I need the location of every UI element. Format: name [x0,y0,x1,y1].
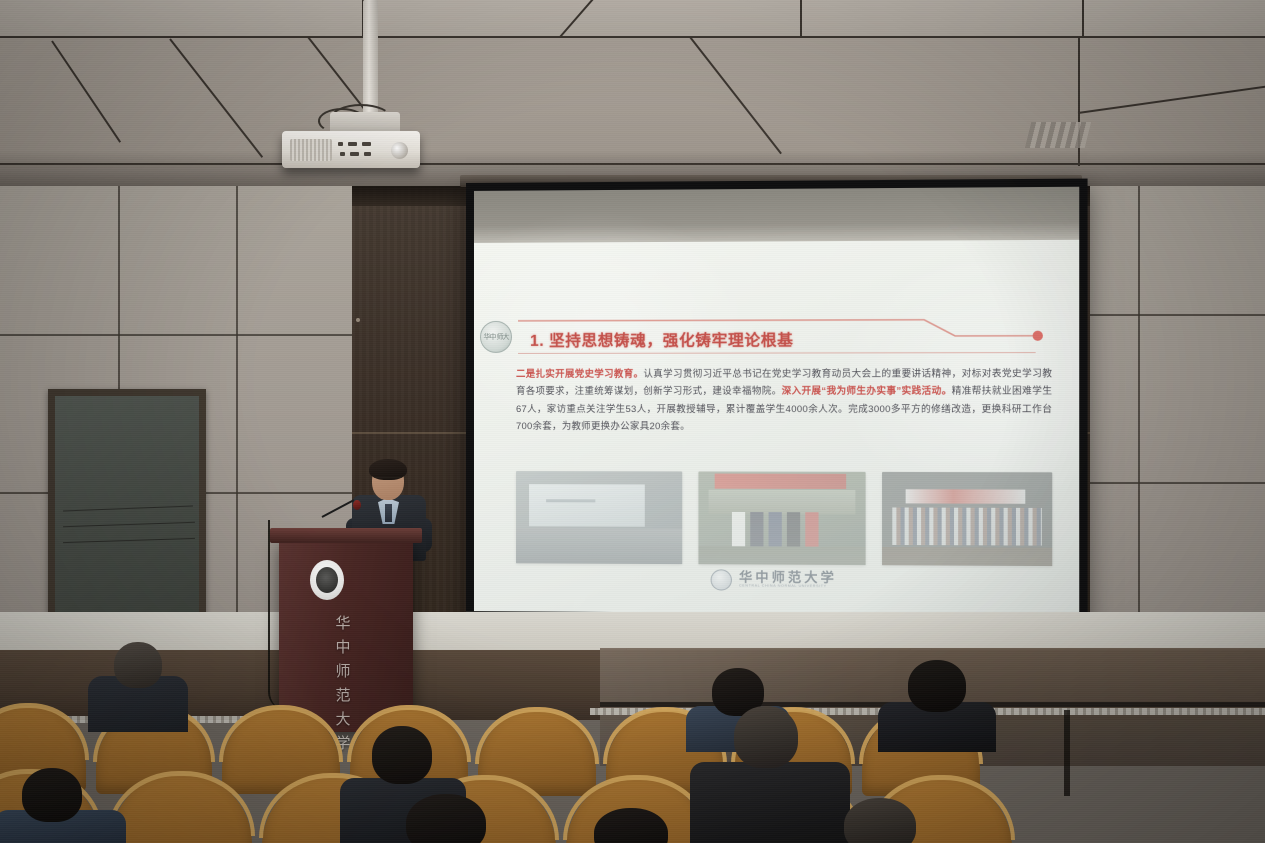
attendee [88,640,188,730]
slide-content: 华中 师大 1. 坚持思想铸魂，强化铸牢理论根基 二是扎实开展党史学习教育。认真… [474,240,1079,605]
ceiling-seam [800,0,802,38]
wall-seam [1090,314,1265,316]
gooseneck-microphone[interactable] [322,498,364,532]
wall-seam [1138,186,1140,666]
seat-divider [1064,710,1070,796]
wall-seam [1090,482,1265,484]
microphone-head [353,500,361,510]
projector-mount-pole [363,0,378,118]
projector-vent [290,139,332,161]
projector-control [338,142,343,146]
projector-control [340,152,345,156]
university-seal-icon [711,569,732,590]
ceiling-air-vent [1025,122,1091,148]
slide-body-highlight: 二是扎实开展党史学习教育。 [516,368,643,379]
microphone-stem [322,499,355,518]
projection-screen[interactable]: 华中 师大 1. 坚持思想铸魂，强化铸牢理论根基 二是扎实开展党史学习教育。认真… [466,179,1088,628]
slide-photo [516,471,682,564]
wall-seam [236,186,238,666]
attendee [580,808,690,843]
presenter-glasses [374,477,402,483]
university-emblem-inner [316,567,338,593]
projector-control [362,142,371,146]
slide-title-rule [518,352,1036,354]
presenter-tie [385,504,392,522]
attendee [884,660,988,748]
wall-speck [356,318,360,322]
slide-photo [698,472,866,566]
projector-control [348,142,357,146]
slide-badge-text: 华中 师大 [484,333,509,340]
university-emblem [310,560,344,600]
slide-photo [882,472,1052,566]
slide-footer-logo: 华中师范大学 CENTRAL CHINA NORMAL UNIVERSITY [474,561,1079,599]
podium-char: 华 [335,612,350,633]
slide-logo-en: CENTRAL CHINA NORMAL UNIVERSITY [739,585,827,590]
wall-seam [0,334,352,336]
podium-char: 中 [335,636,350,657]
slide-photo-row [516,471,1052,566]
auditorium-scene: 华中 师大 1. 坚持思想铸魂，强化铸牢理论根基 二是扎实开展党史学习教育。认真… [0,0,1265,843]
projector-control [364,152,371,156]
ceiling-front-face [0,0,1265,40]
projection-screen-surface: 华中 师大 1. 坚持思想铸魂，强化铸牢理论根基 二是扎实开展党史学习教育。认真… [474,187,1079,617]
slide-seal-badge: 华中 师大 [480,321,512,353]
ceiling-seam [1082,0,1084,38]
attendee [0,768,120,843]
slide-title: 1. 坚持思想铸魂，强化铸牢理论根基 [530,328,794,351]
slide-body-highlight: 深入开展“我为师生办实事”实践活动。 [782,385,952,396]
projector-lens [391,142,408,159]
podium-char: 师 [335,660,350,681]
ceiling-seam [0,36,1265,38]
wall-notice-board[interactable] [48,389,206,627]
slide-body-text: 二是扎实开展党史学习教育。认真学习贯彻习近平总书记在党史学习教育动员大会上的重要… [516,364,1052,435]
projector-control [350,152,359,156]
ceiling-soffit [0,38,1265,168]
podium-desktop [270,528,422,543]
attendee [704,706,832,843]
attendee [832,798,942,843]
attendee [396,794,516,843]
projector [282,131,420,168]
ceiling [0,0,1265,200]
